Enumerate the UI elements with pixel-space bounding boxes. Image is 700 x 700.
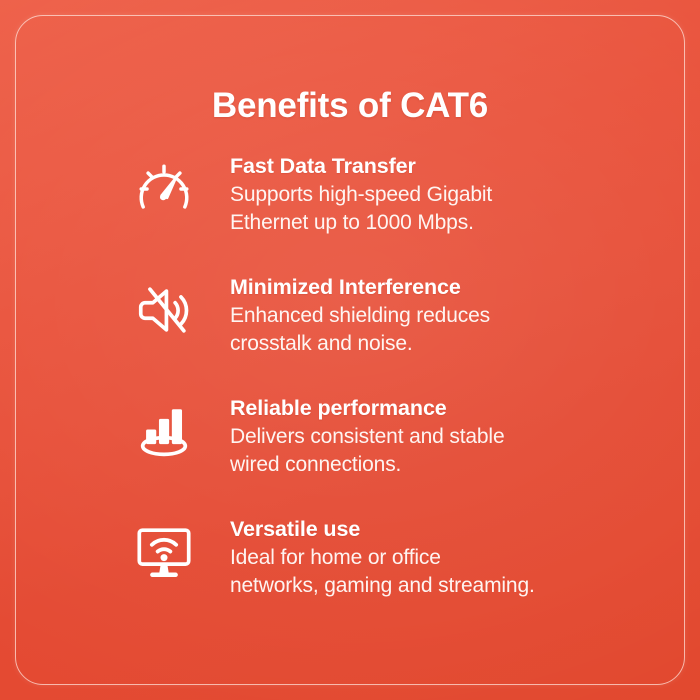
benefit-description: Delivers consistent and stable wired con… [230,423,678,479]
benefit-heading: Versatile use [230,517,678,542]
benefit-description: Enhanced shielding reduces crosstalk and… [230,302,678,358]
card-content: Benefits of CAT6 [0,0,700,700]
benefits-list: Fast Data Transfer Supports high-speed G… [118,152,678,636]
benefit-description-line: crosstalk and noise. [230,330,678,358]
benefit-description: Ideal for home or office networks, gamin… [230,544,678,600]
bar-chart-icon [118,394,210,486]
benefit-heading: Fast Data Transfer [230,154,678,179]
list-item-text: Reliable performance Delivers consistent… [210,394,678,479]
list-item-text: Versatile use Ideal for home or office n… [210,515,678,600]
benefit-description-line: Delivers consistent and stable [230,423,678,451]
benefit-heading: Reliable performance [230,396,678,421]
benefit-description-line: networks, gaming and streaming. [230,572,678,600]
list-item-text: Fast Data Transfer Supports high-speed G… [210,152,678,237]
benefit-heading: Minimized Interference [230,275,678,300]
benefits-infographic-card: Benefits of CAT6 [0,0,700,700]
list-item: Reliable performance Delivers consistent… [118,394,678,515]
benefit-description-line: Enhanced shielding reduces [230,302,678,330]
monitor-wifi-icon [118,515,210,607]
benefit-description-line: Ethernet up to 1000 Mbps. [230,209,678,237]
list-item: Fast Data Transfer Supports high-speed G… [118,152,678,273]
benefit-description-line: Ideal for home or office [230,544,678,572]
benefit-description: Supports high-speed Gigabit Ethernet up … [230,181,678,237]
page-title: Benefits of CAT6 [0,86,700,126]
speedometer-icon [118,152,210,244]
benefit-description-line: wired connections. [230,451,678,479]
benefit-description-line: Supports high-speed Gigabit [230,181,678,209]
speaker-mute-icon [118,273,210,365]
list-item: Minimized Interference Enhanced shieldin… [118,273,678,394]
list-item-text: Minimized Interference Enhanced shieldin… [210,273,678,358]
list-item: Versatile use Ideal for home or office n… [118,515,678,636]
